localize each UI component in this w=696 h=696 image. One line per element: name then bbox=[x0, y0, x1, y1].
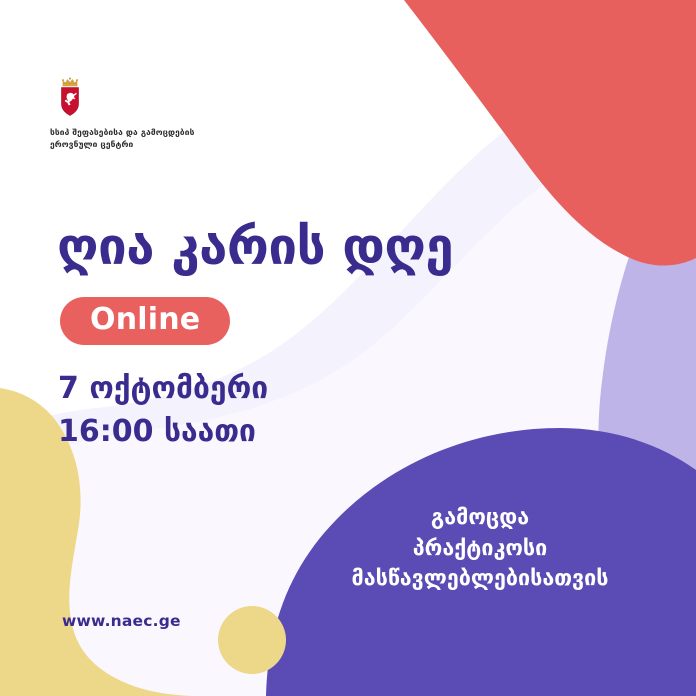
event-date: 7 ოქტომბერი bbox=[58, 368, 268, 411]
audience-panel-text: გამოცდა პრაქტიკოსი მასწავლებლებისათვის bbox=[300, 503, 660, 595]
audience-line-1: გამოცდა bbox=[300, 503, 660, 534]
event-time: 16:00 საათი bbox=[58, 411, 268, 454]
audience-line-2: პრაქტიკოსი bbox=[300, 534, 660, 565]
poster-canvas: სსიპ შეფასებისა და გამოცდების ეროვნული ც… bbox=[0, 0, 696, 696]
website-url[interactable]: www.naec.ge bbox=[62, 612, 181, 630]
status-badge-online: Online bbox=[60, 297, 230, 345]
georgia-coat-of-arms-icon bbox=[55, 76, 85, 118]
page-title: ღია კარის დღე bbox=[57, 222, 453, 273]
yellow-accent-dot bbox=[218, 606, 286, 674]
audience-line-3: მასწავლებლებისათვის bbox=[300, 564, 660, 595]
organization-name-line2: ეროვნული ცენტრი bbox=[50, 138, 270, 150]
organization-logo: სსიპ შეფასებისა და გამოცდების ეროვნული ც… bbox=[50, 76, 310, 150]
event-datetime: 7 ოქტომბერი 16:00 საათი bbox=[58, 368, 268, 453]
organization-name: სსიპ შეფასებისა და გამოცდების ეროვნული ც… bbox=[50, 126, 270, 150]
organization-name-line1: სსიპ შეფასებისა და გამოცდების bbox=[50, 126, 270, 138]
